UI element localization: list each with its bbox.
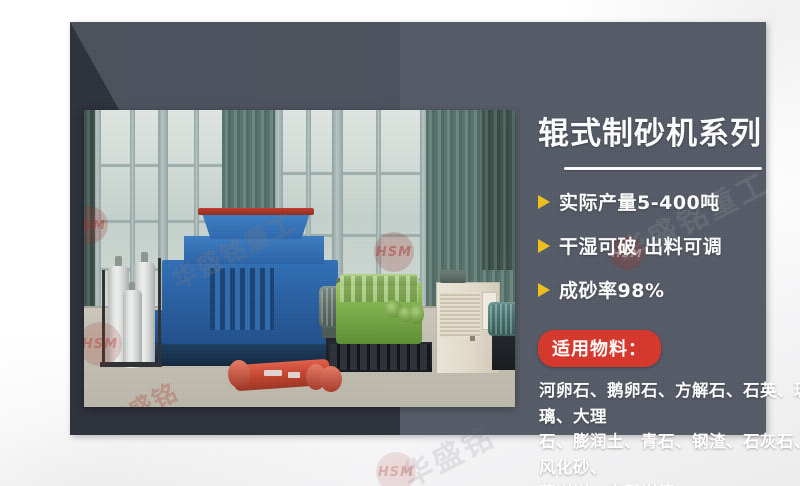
title-divider	[564, 167, 762, 170]
arrow-right-triangle-icon	[538, 239, 550, 253]
product-text-column: 辊式制砂机系列 实际产量5-400吨 干湿可破 出料可调 成砂率98% 适用物料…	[535, 117, 800, 486]
photo-wall-panel	[482, 110, 515, 270]
feature-item-2: 干湿可破 出料可调	[538, 232, 800, 259]
photo-window-mullion	[94, 110, 101, 310]
photo-gearbox-ribs	[340, 276, 418, 302]
feature-label: 实际产量5-400吨	[559, 188, 720, 215]
photo-coupling-flange	[320, 366, 342, 392]
product-photo: 华盛铭重工 华盛铭 HSM HSM HSM	[84, 110, 515, 407]
photo-hydraulic-pipe	[102, 270, 105, 366]
feature-item-3: 成砂率98%	[538, 276, 800, 303]
status-badge: 适用物料：	[538, 330, 661, 367]
hsm-logo-icon-page-bottom: HSM	[376, 452, 416, 486]
materials-line: 河卵石、鹅卵石、方解石、石英、玻璃、大理	[539, 378, 800, 429]
photo-gas-cylinder	[123, 290, 142, 368]
photo-blue-crusher-ribs	[210, 268, 274, 330]
feature-label: 干湿可破 出料可调	[559, 232, 722, 259]
photo-feed-hopper	[202, 213, 310, 239]
photo-teal-motor-fins	[490, 304, 515, 334]
arrow-right-triangle-icon	[538, 195, 550, 209]
photo-cabinet-louvers	[440, 292, 480, 338]
photo-cabinet-top-unit	[440, 270, 466, 283]
photo-cabinet-knob	[470, 336, 475, 341]
photo-hydraulic-pipe	[158, 258, 161, 362]
photo-teal-motor-stand	[492, 336, 515, 370]
page-title: 辊式制砂机系列	[538, 117, 800, 151]
photo-hydraulic-pipe	[100, 362, 162, 367]
photo-hopper-red-rim	[198, 208, 314, 215]
arrow-right-triangle-icon	[538, 283, 550, 297]
photo-window-rail	[280, 172, 424, 175]
photo-coupling-label	[264, 370, 282, 376]
materials-list: 河卵石、鹅卵石、方解石、石英、玻璃、大理 石、膨润土、青石、钢渣、石灰石、风化砂…	[539, 378, 800, 486]
materials-line: 石、膨润土、青石、钢渣、石灰石、风化砂、	[539, 429, 800, 480]
photo-wall-panel	[84, 110, 95, 308]
feature-label: 成砂率98%	[559, 276, 664, 303]
promo-banner: 华盛铭重工 HSM	[0, 0, 800, 486]
photo-gearbox-base-ribs	[330, 344, 430, 370]
photo-coupling-flange	[228, 360, 250, 388]
photo-coupling-label	[288, 372, 300, 378]
hsm-logo-label: HSM	[376, 465, 416, 480]
photo-blue-crusher-upper	[184, 236, 324, 264]
info-panel: 华盛铭重工 HSM	[70, 22, 766, 435]
materials-line: 花岗岩、玄武岩等。	[539, 480, 800, 486]
photo-gearbox-shaft-disc	[410, 304, 424, 324]
feature-item-1: 实际产量5-400吨	[538, 188, 800, 215]
